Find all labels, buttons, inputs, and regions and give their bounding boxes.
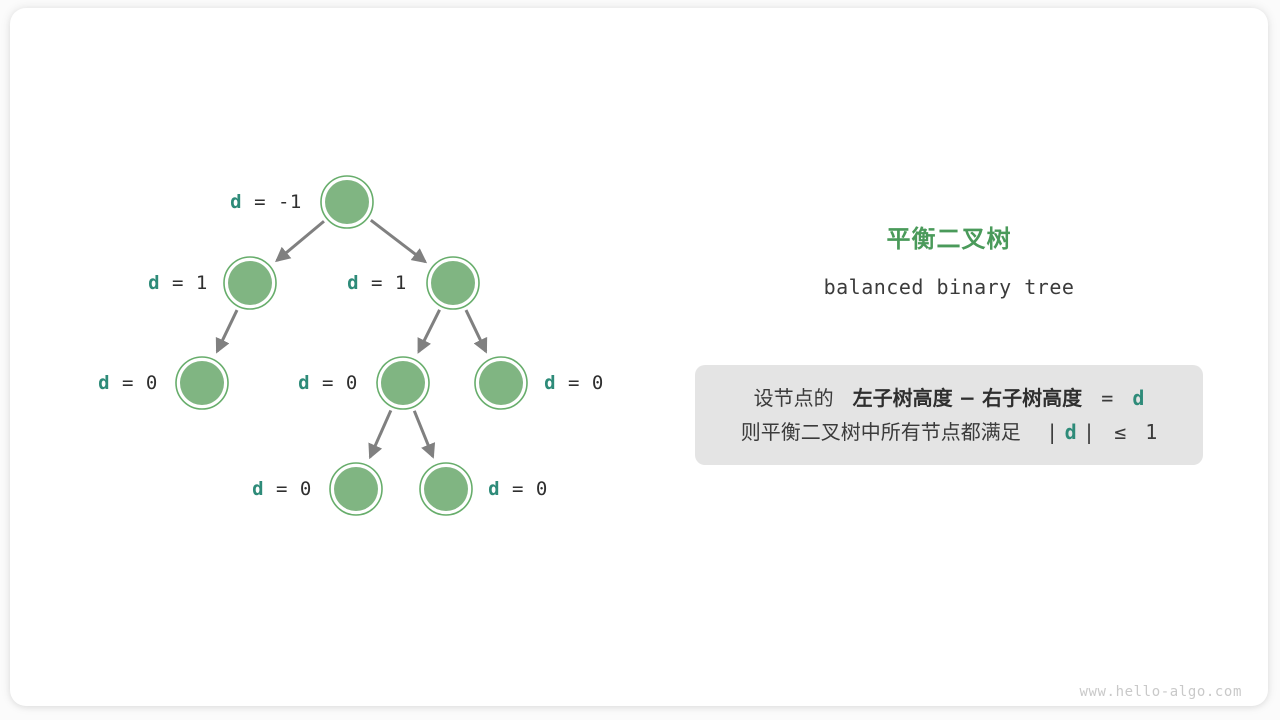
tree-node [224, 257, 276, 309]
node-label-value: = 0 [110, 372, 158, 394]
node-balance-label: d = 0 [298, 372, 358, 394]
node-label-value: = 0 [310, 372, 358, 394]
node-label-variable: d [488, 478, 500, 500]
tree-edge [466, 310, 486, 351]
stage: d = -1d = 1d = 1d = 0d = 0d = 0d = 0d = … [0, 0, 1280, 720]
node-label-variable: d [98, 372, 110, 394]
tree-node [377, 357, 429, 409]
node-balance-label: d = 1 [148, 272, 208, 294]
node-balance-label: d = 0 [252, 478, 312, 500]
callout-bar-close: | [1083, 420, 1095, 444]
node-label-variable: d [544, 372, 556, 394]
watermark: www.hello-algo.com [1079, 684, 1242, 700]
callout-bold-right: 右子树高度 [982, 386, 1082, 410]
node-label-value: = -1 [242, 191, 302, 213]
tree-nodes [176, 176, 527, 515]
node-balance-label: d = 0 [488, 478, 548, 500]
tree-node-fill [381, 361, 425, 405]
callout-prefix-1: 设节点的 [754, 386, 834, 410]
node-balance-label: d = 0 [98, 372, 158, 394]
tree-edge [370, 410, 391, 457]
binary-tree-diagram [0, 0, 1280, 720]
node-label-value: = 0 [264, 478, 312, 500]
definition-callout: 设节点的 左子树高度 − 右子树高度 = d 则平衡二叉树中所有节点都满足 | … [695, 365, 1203, 465]
panel-title: 平衡二叉树 [695, 222, 1203, 256]
callout-value: 1 [1145, 420, 1157, 444]
tree-node [475, 357, 527, 409]
node-balance-label: d = 0 [544, 372, 604, 394]
tree-node-fill [325, 180, 369, 224]
callout-prefix-2: 则平衡二叉树中所有节点都满足 [741, 420, 1021, 444]
tree-edge [419, 310, 440, 352]
node-balance-label: d = 1 [347, 272, 407, 294]
tree-edge [277, 221, 324, 260]
callout-bar-open: | [1046, 420, 1058, 444]
callout-bold-left: 左子树高度 [853, 386, 953, 410]
tree-node [330, 463, 382, 515]
node-label-value: = 1 [359, 272, 407, 294]
tree-node [427, 257, 479, 309]
node-label-variable: d [347, 272, 359, 294]
callout-relation: ≤ [1114, 420, 1126, 444]
tree-edges [217, 220, 486, 457]
node-label-variable: d [148, 272, 160, 294]
tree-node-fill [228, 261, 272, 305]
node-label-value: = 0 [556, 372, 604, 394]
node-label-variable: d [230, 191, 242, 213]
callout-line-1: 设节点的 左子树高度 − 右子树高度 = d [695, 381, 1203, 415]
panel-subtitle: balanced binary tree [695, 273, 1203, 301]
callout-minus: − [959, 386, 976, 410]
callout-equals: = [1101, 386, 1113, 410]
callout-variable-2: d [1065, 420, 1077, 444]
node-balance-label: d = -1 [230, 191, 302, 213]
callout-variable-1: d [1132, 386, 1144, 410]
tree-node-fill [431, 261, 475, 305]
tree-node-fill [479, 361, 523, 405]
tree-node-fill [180, 361, 224, 405]
tree-edge [414, 411, 433, 457]
node-label-value: = 1 [160, 272, 208, 294]
node-label-value: = 0 [500, 478, 548, 500]
tree-node [420, 463, 472, 515]
tree-edge [371, 220, 425, 262]
callout-line-2: 则平衡二叉树中所有节点都满足 | d | ≤ 1 [695, 415, 1203, 449]
tree-edge [217, 310, 237, 351]
tree-node [176, 357, 228, 409]
tree-node [321, 176, 373, 228]
node-label-variable: d [252, 478, 264, 500]
tree-node-fill [424, 467, 468, 511]
tree-node-fill [334, 467, 378, 511]
node-label-variable: d [298, 372, 310, 394]
info-panel: 平衡二叉树 balanced binary tree [695, 222, 1203, 301]
